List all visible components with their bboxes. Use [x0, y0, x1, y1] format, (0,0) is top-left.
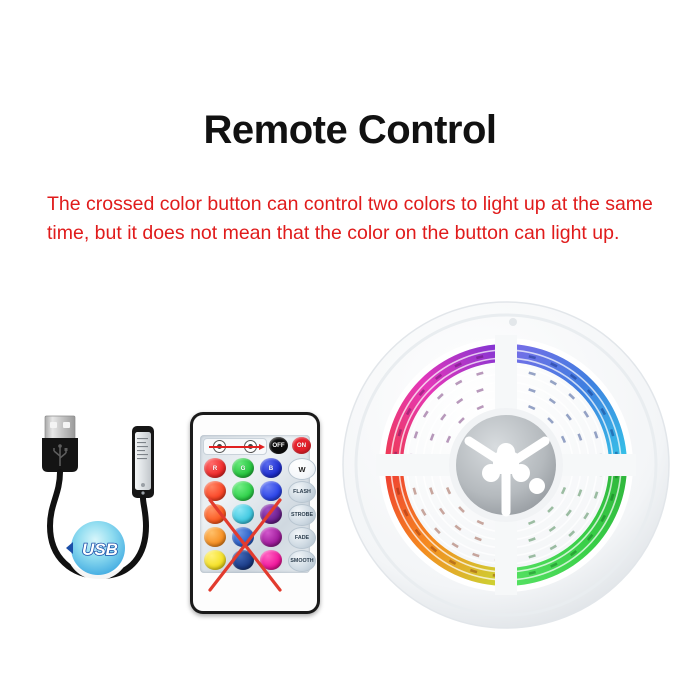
usb-connector-tip: [45, 416, 75, 439]
inline-controller-label: [135, 432, 151, 490]
color-button-r2[interactable]: [204, 481, 226, 501]
color-button-o4[interactable]: [204, 527, 226, 547]
flash-button[interactable]: FLASH: [288, 481, 316, 503]
remote-face: OFF ON R G B: [193, 415, 317, 611]
color-button-b2[interactable]: [260, 481, 282, 501]
remote-control-device: OFF ON R G B: [190, 412, 320, 614]
reel-notch: [509, 318, 517, 326]
brightness-rocker[interactable]: [203, 438, 267, 455]
led-reel-svg: [341, 300, 671, 630]
page-title: Remote Control: [0, 108, 700, 153]
usb-cable-svg: USB: [28, 408, 178, 608]
color-button-r3[interactable]: [204, 504, 226, 524]
product-image-canvas: Remote Control The crossed color button …: [0, 0, 700, 700]
color-button-r[interactable]: R: [204, 458, 226, 478]
remote-button-pad: OFF ON R G B: [200, 435, 310, 573]
led-strip-reel: [341, 300, 671, 630]
white-button[interactable]: W: [288, 458, 316, 480]
off-button[interactable]: OFF: [269, 437, 288, 454]
color-button-b[interactable]: B: [260, 458, 282, 478]
brightness-arrow-icon: [209, 446, 261, 448]
color-button-n5[interactable]: [232, 550, 254, 570]
smooth-button[interactable]: SMOOTH: [288, 550, 316, 572]
on-button[interactable]: ON: [292, 437, 311, 454]
color-button-g[interactable]: G: [232, 458, 254, 478]
color-button-p3[interactable]: [260, 504, 282, 524]
fade-button[interactable]: FADE: [288, 527, 316, 549]
usb-cable-illustration: USB: [28, 408, 178, 608]
color-button-pk5[interactable]: [260, 550, 282, 570]
color-button-c3[interactable]: [232, 504, 254, 524]
page-subtitle: The crossed color button can control two…: [47, 190, 657, 248]
hub-hole: [529, 478, 545, 494]
color-button-b4[interactable]: [232, 527, 254, 547]
strobe-button[interactable]: STROBE: [288, 504, 316, 526]
color-button-m4[interactable]: [260, 527, 282, 547]
usb-badge-text: USB: [82, 540, 118, 559]
color-button-g2[interactable]: [232, 481, 254, 501]
color-button-y5[interactable]: [204, 550, 226, 570]
